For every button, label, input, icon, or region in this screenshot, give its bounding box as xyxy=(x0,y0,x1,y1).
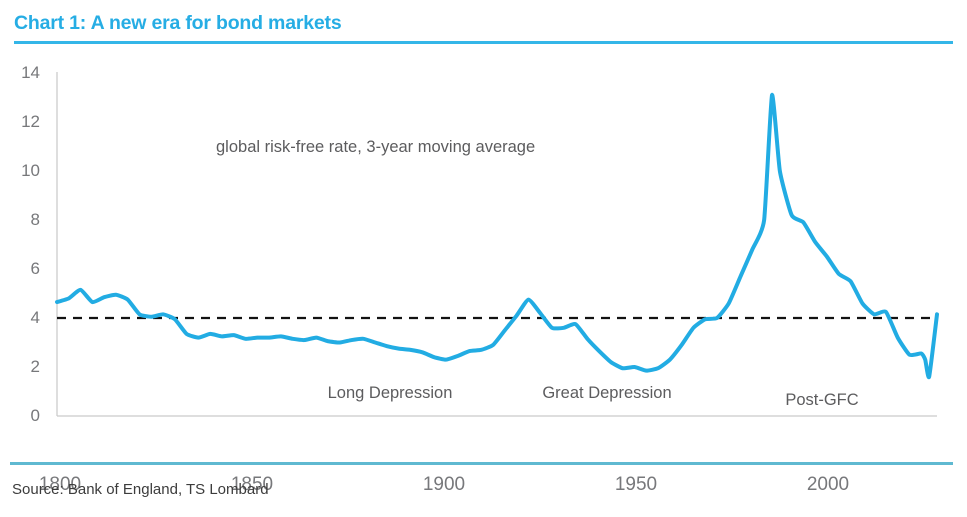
chart-subtitle: global risk-free rate, 3-year moving ave… xyxy=(216,138,535,157)
line-chart-svg xyxy=(0,50,967,450)
source-note: Source: Bank of England, TS Lombard xyxy=(12,481,269,498)
y-tick-12: 12 xyxy=(6,112,40,132)
annotation-long-depression: Long Depression xyxy=(328,384,453,403)
y-tick-4: 4 xyxy=(6,308,40,328)
y-tick-10: 10 xyxy=(6,161,40,181)
source-divider xyxy=(10,462,953,465)
y-tick-2: 2 xyxy=(6,357,40,377)
plot-area: 14 12 10 8 6 4 2 0 1800 1850 1900 1950 2… xyxy=(0,50,967,450)
page-title: Chart 1: A new era for bond markets xyxy=(14,12,341,35)
chart-page: Chart 1: A new era for bond markets 14 1… xyxy=(0,0,967,517)
y-tick-0: 0 xyxy=(6,406,40,426)
x-tick-1950: 1950 xyxy=(615,474,657,496)
x-tick-1900: 1900 xyxy=(423,474,465,496)
annotation-post-gfc: Post-GFC xyxy=(785,391,858,410)
y-tick-8: 8 xyxy=(6,210,40,230)
y-tick-14: 14 xyxy=(6,63,40,83)
title-divider xyxy=(14,41,953,44)
x-tick-2000: 2000 xyxy=(807,474,849,496)
y-tick-6: 6 xyxy=(6,259,40,279)
annotation-great-depression: Great Depression xyxy=(542,384,671,403)
